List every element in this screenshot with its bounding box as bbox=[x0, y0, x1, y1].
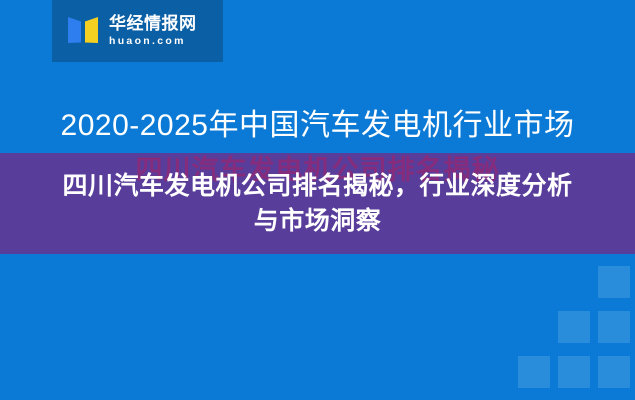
brand-name-cn: 华经情报网 bbox=[109, 15, 197, 32]
brand-logo[interactable]: 华经情报网 huaon.com bbox=[52, 0, 223, 62]
decorative-square-grid bbox=[510, 266, 630, 388]
decorative-square bbox=[598, 356, 630, 388]
decorative-square bbox=[518, 356, 550, 388]
brand-name-en: huaon.com bbox=[109, 36, 197, 47]
brand-logo-text: 华经情报网 huaon.com bbox=[109, 15, 197, 47]
poster-headline: 2020-2025年中国汽车发电机行业市场 bbox=[0, 106, 635, 146]
decorative-square bbox=[598, 311, 630, 343]
open-book-logo-icon bbox=[66, 13, 100, 47]
overlay-title-text: 四川汽车发电机公司排名揭秘，行业深度分析与市场洞察 bbox=[38, 169, 598, 239]
decorative-square bbox=[558, 356, 590, 388]
poster-canvas: 华经情报网 huaon.com 2020-2025年中国汽车发电机行业市场 四川… bbox=[0, 0, 635, 400]
overlay-title-band: 四川汽车发电机公司排名揭秘，行业深度分析与市场洞察 bbox=[0, 153, 635, 254]
decorative-square bbox=[598, 266, 630, 298]
decorative-square bbox=[558, 311, 590, 343]
